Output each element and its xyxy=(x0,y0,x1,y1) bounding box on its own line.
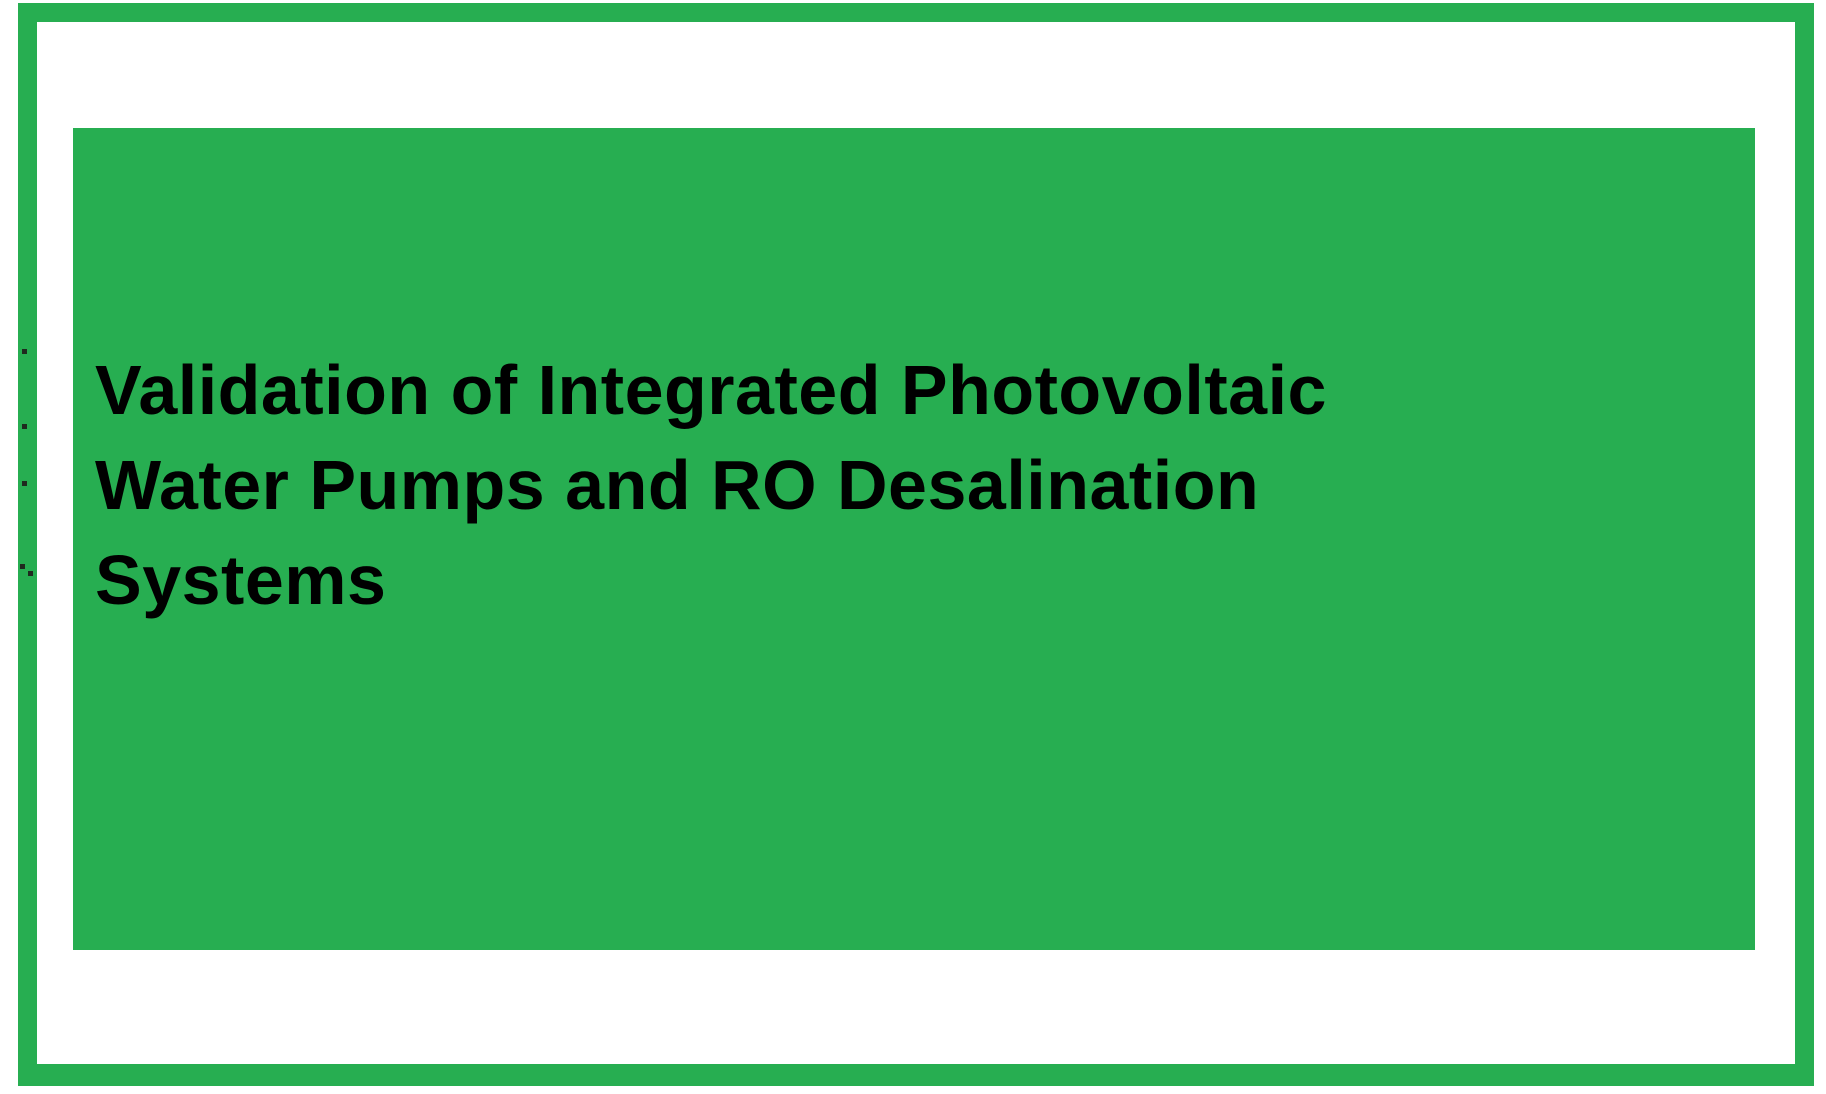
bullet-artifact-dot xyxy=(20,564,25,569)
page-title: Validation of Integrated Photovoltaic Wa… xyxy=(95,343,1735,628)
page-title-line-3: Systems xyxy=(95,533,1735,628)
slide-canvas: Validation of Integrated Photovoltaic Wa… xyxy=(0,0,1826,1094)
frame-border-left xyxy=(18,3,37,1086)
page-title-line-1: Validation of Integrated Photovoltaic xyxy=(95,343,1735,438)
frame-border-top xyxy=(18,3,1814,22)
bullet-artifact-dot xyxy=(28,571,33,576)
content-panel: Validation of Integrated Photovoltaic Wa… xyxy=(73,128,1755,950)
bullet-artifact-dot xyxy=(22,481,27,486)
frame-border-right xyxy=(1795,3,1814,1086)
bullet-artifact-dot xyxy=(22,349,27,354)
frame-border-left-step xyxy=(30,1008,37,1086)
frame-border-bottom xyxy=(18,1064,1814,1086)
bullet-artifact-dot xyxy=(22,424,27,429)
page-title-line-2: Water Pumps and RO Desalination xyxy=(95,438,1735,533)
